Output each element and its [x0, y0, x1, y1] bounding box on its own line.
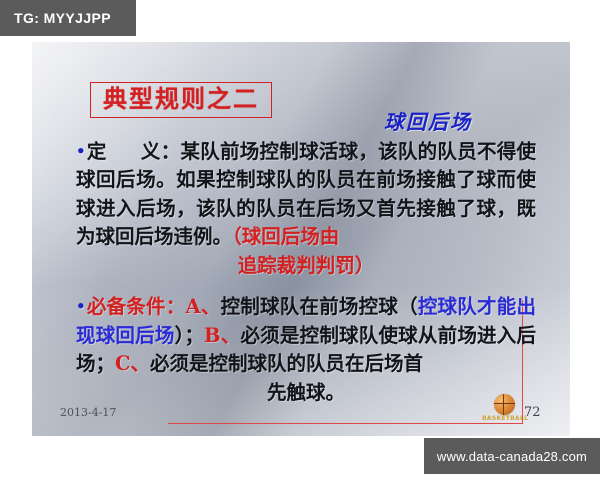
slide-date: 2013-4-17: [60, 406, 116, 419]
conditions-bullet: •: [76, 297, 87, 315]
definition-note-2: 追踪裁判判罚）: [76, 252, 536, 280]
condition-b-marker: B、: [204, 324, 240, 347]
slide-title-box: 典型规则之二: [90, 82, 272, 118]
conditions-label: 必备条件: [87, 295, 166, 318]
presentation-slide: 典型规则之二 球回后场 •定义：某队前场控制球活球，该队的队员不得使球回后场。如…: [32, 42, 570, 436]
basketball-logo-text: BASKETBALL: [482, 415, 526, 422]
slide-page-number: 72: [524, 405, 541, 420]
definition-note: （球回后场由: [232, 225, 339, 248]
condition-c-tail: 先触球。: [76, 379, 536, 407]
frame-bottom-rule: [168, 423, 523, 424]
basketball-logo: BASKETBALL: [482, 394, 526, 424]
watermark-bar: www.data-canada28.com: [424, 438, 600, 474]
definition-paragraph: •定义：某队前场控制球活球，该队的队员不得使球回后场。如果控制球队的队员在前场接…: [76, 138, 536, 280]
screenshot-root: TG: MYYJJPP 典型规则之二 球回后场 •定义：某队前场控制球活球，该队…: [0, 0, 600, 480]
slide-subtitle: 球回后场: [384, 106, 472, 135]
condition-c-text: 必须是控制球队的队员在后场首: [150, 352, 423, 375]
definition-bullet: •: [76, 142, 87, 160]
condition-a-tail: ）；: [175, 324, 204, 347]
conditions-colon: ：: [166, 295, 186, 318]
slide-body: •定义：某队前场控制球活球，该队的队员不得使球回后场。如果控制球队的队员在前场接…: [76, 138, 536, 409]
condition-a-marker: A、: [185, 295, 220, 318]
definition-colon: ：: [161, 140, 181, 163]
tg-label-text: TG: MYYJJPP: [14, 10, 111, 26]
definition-label2: 义: [141, 140, 161, 163]
tg-label-bar: TG: MYYJJPP: [0, 0, 136, 36]
conditions-paragraph: •必备条件：A、控制球队在前场控球（控球队才能出现球回后场）；B、必须是控制球队…: [76, 293, 536, 407]
basketball-icon: [494, 394, 515, 415]
slide-title: 典型规则之二: [103, 84, 259, 113]
watermark-text: www.data-canada28.com: [437, 449, 587, 464]
condition-c-marker: C、: [115, 352, 150, 375]
condition-a-text: 控制球队在前场控球（: [221, 295, 418, 318]
definition-label: 定: [87, 140, 107, 163]
